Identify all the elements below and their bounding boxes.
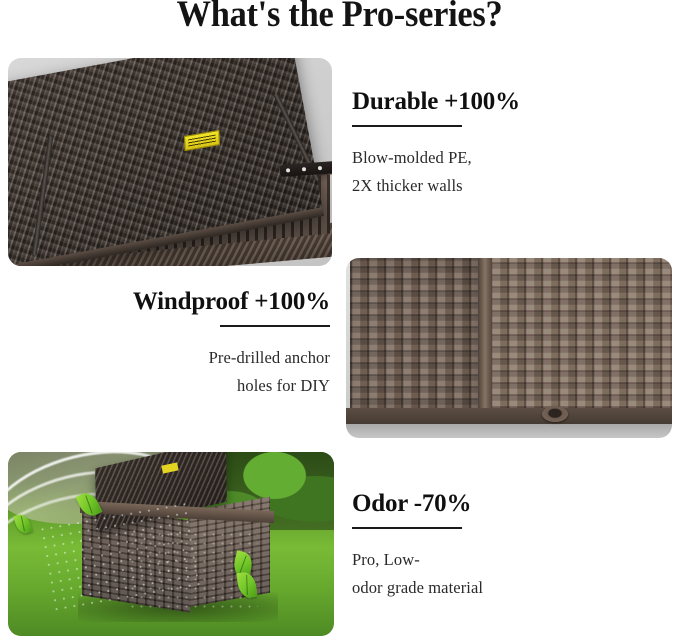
feature-body-line: odor grade material — [352, 578, 483, 597]
corner-post — [478, 258, 492, 424]
feature-body-odor: Pro, Low- odor grade material — [352, 546, 652, 602]
feature-heading-odor: Odor -70% — [352, 490, 652, 518]
page-title: What's the Pro-series? — [24, 0, 655, 36]
corner-anchor-hole-photo — [346, 258, 672, 438]
feature-heading-windproof: Windproof +100% — [30, 288, 330, 316]
weave-face-right — [490, 258, 672, 420]
feature-body-line: Pre-drilled anchor — [209, 348, 330, 367]
anchor-hole — [542, 406, 568, 422]
feature-block-windproof: Windproof +100% Pre-drilled anchor holes… — [30, 288, 330, 400]
feature-body-line: 2X thicker walls — [352, 176, 463, 195]
feature-rule-durable — [352, 125, 462, 127]
feature-body-line: holes for DIY — [237, 376, 330, 395]
deck-box-open-lid-photo — [8, 58, 332, 266]
bottom-lip — [346, 408, 672, 424]
feature-block-durable: Durable +100% Blow-molded PE, 2X thicker… — [352, 88, 652, 200]
feature-block-odor: Odor -70% Pro, Low- odor grade material — [352, 490, 652, 602]
feature-body-windproof: Pre-drilled anchor holes for DIY — [30, 344, 330, 400]
feature-heading-durable: Durable +100% — [352, 88, 652, 116]
feature-rule-odor — [352, 527, 462, 529]
lawn-airflow-photo — [8, 452, 334, 636]
feature-body-line: Blow-molded PE, — [352, 148, 472, 167]
feature-body-line: Pro, Low- — [352, 550, 420, 569]
feature-body-durable: Blow-molded PE, 2X thicker walls — [352, 144, 652, 200]
feature-rule-windproof — [220, 325, 330, 327]
weave-face-left — [350, 258, 486, 412]
